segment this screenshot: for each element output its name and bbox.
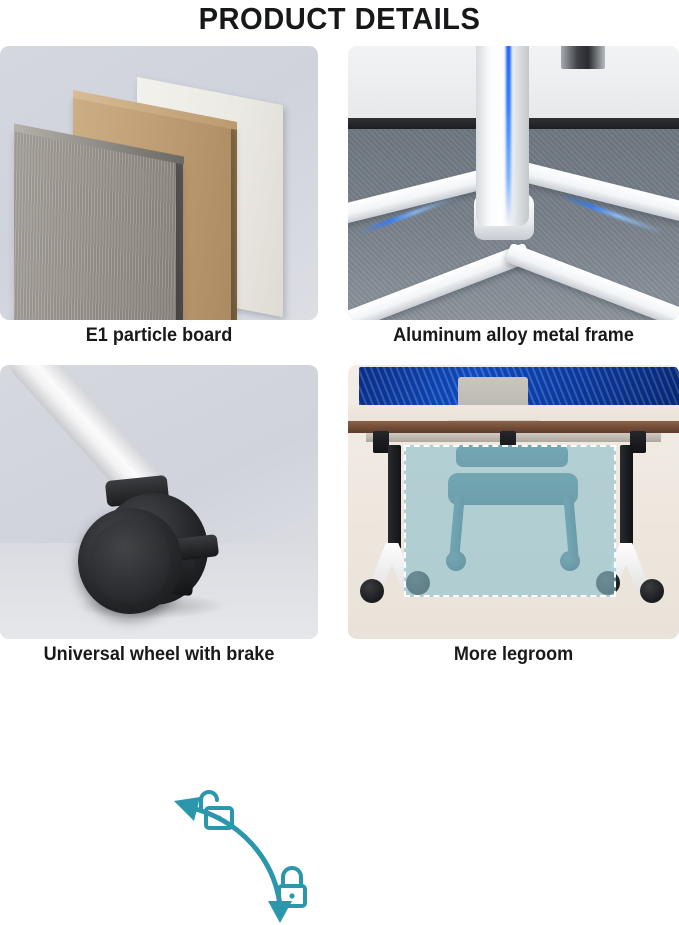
blue-highlight-line (506, 46, 511, 224)
panel-particle-board: E1 particle board (0, 46, 318, 320)
metal-frame-image (348, 46, 679, 320)
panel-more-legroom: More legroom (348, 365, 679, 639)
caster-hubcap (90, 519, 170, 603)
caption-particle-board: E1 particle board (8, 322, 310, 350)
monitor-mount (561, 46, 605, 69)
panel-metal-frame: Aluminum alloy metal frame (348, 46, 679, 320)
caption-universal-wheel: Universal wheel with brake (8, 641, 310, 669)
page-title: PRODUCT DETAILS (20, 1, 658, 37)
frame-post (476, 46, 529, 226)
particle-board-image (0, 46, 318, 320)
more-legroom-image (348, 365, 679, 639)
desk-leg-post (388, 445, 401, 549)
desk-bracket (373, 431, 389, 453)
universal-wheel-image (0, 365, 318, 639)
desk-caster (360, 579, 384, 603)
caption-metal-frame: Aluminum alloy metal frame (356, 322, 670, 350)
desk-caster (640, 579, 664, 603)
panel-universal-wheel: Universal wheel with brake (0, 365, 318, 639)
caption-more-legroom: More legroom (356, 641, 670, 669)
lock-icon (272, 863, 312, 909)
desk-leg-post (620, 445, 633, 549)
unlock-icon (196, 787, 236, 831)
product-details-grid: E1 particle board Aluminum alloy metal f… (0, 46, 679, 673)
legroom-highlight-area (404, 445, 616, 597)
